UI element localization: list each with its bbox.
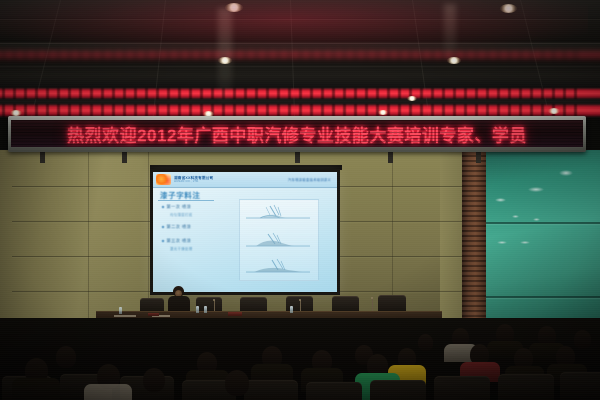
table-nameplate [148, 313, 159, 316]
microphone-head [299, 299, 301, 301]
ceiling-spotlight [447, 57, 461, 64]
audience-head [225, 370, 249, 396]
water-bottle [196, 306, 199, 313]
list-item: 第二次 喷涂 [162, 224, 230, 230]
company-logo-icon [156, 174, 171, 185]
slide-title-underline [158, 200, 214, 201]
seat-back [498, 374, 554, 400]
brick-pillar [462, 150, 486, 345]
led-banner: 热烈欢迎2012年广西中职汽修专业技能大赛培训专家、学员 [8, 116, 586, 152]
audience-seating [0, 318, 600, 400]
paper-documents [114, 315, 136, 317]
ceiling-spotlight [378, 110, 388, 115]
seat-back [370, 380, 426, 400]
led-strip-upper [0, 50, 600, 60]
seat-back [560, 372, 600, 400]
seat-back [306, 382, 362, 400]
water-bottle [119, 307, 122, 314]
slide-bullet-list: 第一次 喷涂 均匀薄层打底 第二次 喷涂 第三次 喷涂 罩光干燥处理 [162, 204, 230, 258]
list-item: 第一次 喷涂 均匀薄层打底 [162, 204, 230, 217]
ceiling-spotlight [548, 108, 560, 114]
slide-company-name: 湖南省XX科技有限公司 HUNAN CO., LTD. [174, 176, 213, 184]
list-item: 第三次 喷涂 罩光干燥处理 [162, 238, 230, 251]
audience-shoulders [12, 378, 60, 400]
led-strip-middle [0, 88, 600, 99]
presentation-slide: 湖南省XX科技有限公司 HUNAN CO., LTD. 汽车喷涂钣金技术培训讲义… [153, 172, 337, 292]
audience-head [574, 330, 591, 349]
water-bottle [204, 306, 207, 313]
slide-header: 湖南省XX科技有限公司 HUNAN CO., LTD. 汽车喷涂钣金技术培训讲义 [153, 172, 337, 188]
audience-head [143, 368, 165, 392]
ceiling [0, 0, 600, 118]
ceiling-spotlight [218, 57, 232, 64]
seat-back [434, 376, 490, 400]
bullet-sub: 罩光干燥处理 [170, 246, 230, 251]
slide-diagram-panel [239, 199, 319, 281]
ceiling-spotlight [500, 4, 517, 13]
microphone-stand [372, 298, 373, 312]
audience-head [418, 334, 433, 351]
table-nameplate [228, 312, 242, 316]
microphone-head [371, 297, 373, 299]
bullet-main: 第一次 喷涂 [162, 204, 230, 210]
spray-technique-diagram-icon [240, 200, 318, 280]
ceiling-spotlight [225, 3, 243, 12]
auditorium-photo: 热烈欢迎2012年广西中职汽修专业技能大赛培训专家、学员 湖南省XX科技有限公司… [0, 0, 600, 400]
microphone-head [213, 299, 215, 301]
slide-header-right: 汽车喷涂钣金技术培训讲义 [288, 177, 331, 182]
banner-text: 热烈欢迎2012年广西中职汽修专业技能大赛培训专家、学员 [67, 120, 527, 146]
ceiling-spotlight [407, 96, 417, 101]
audience-shoulders [84, 384, 132, 400]
banner-display: 热烈欢迎2012年广西中职汽修专业技能大赛培训专家、学员 [11, 120, 583, 147]
bullet-sub: 均匀薄层打底 [170, 212, 230, 217]
bullet-main: 第三次 喷涂 [162, 238, 230, 244]
water-bottle [290, 306, 293, 313]
seat-back [244, 380, 298, 400]
bullet-main: 第二次 喷涂 [162, 224, 230, 230]
audience-head [56, 346, 76, 368]
